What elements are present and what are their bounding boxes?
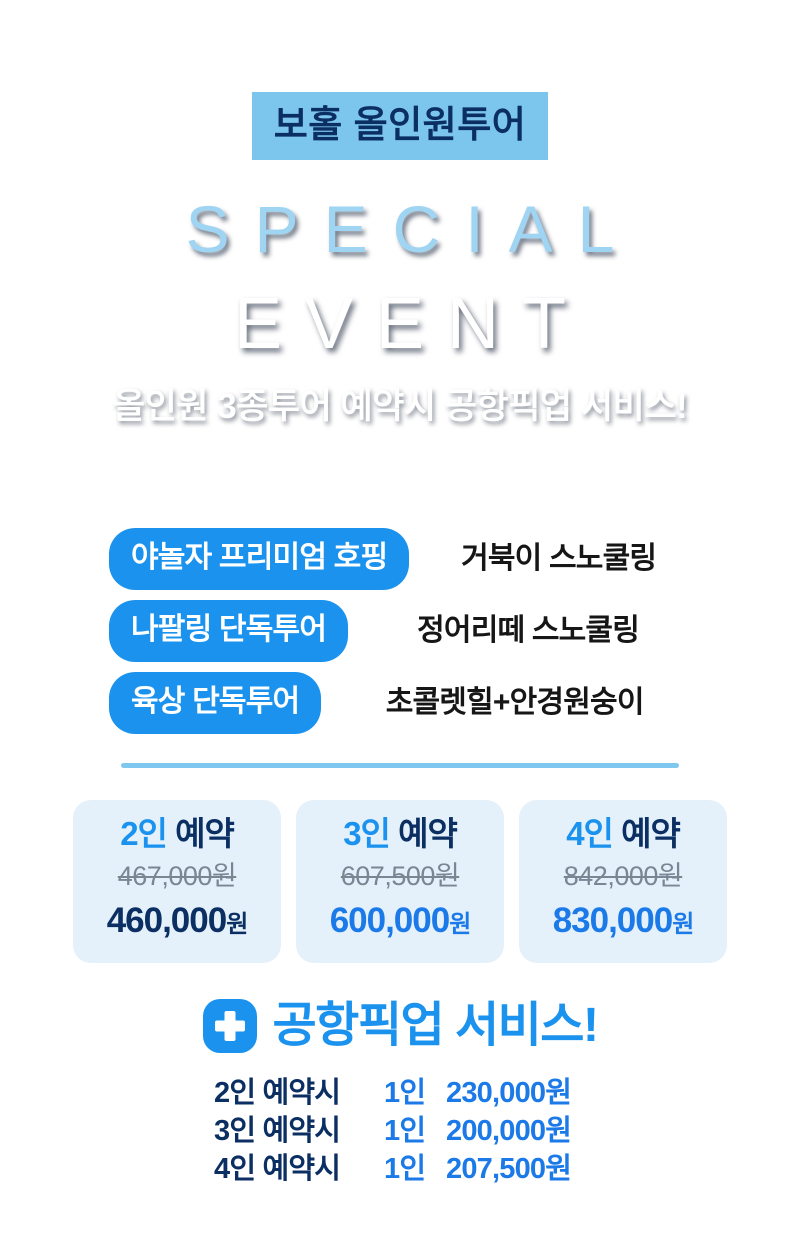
price-card-count: 3인 xyxy=(343,815,390,852)
poster-header: 보홀 올인원투어 SPECIAL EVENT 올인원 3종투어 예약시 공항픽업… xyxy=(0,0,800,428)
bonus-price-row: 2인 예약시 1인 230,000원 xyxy=(214,1079,738,1117)
tour-row: 야놀자 프리미엄 호핑 거북이 스노쿨링 xyxy=(62,523,738,595)
bonus-row-amount: 200,000원 xyxy=(446,1117,571,1146)
price-card-word: 예약 xyxy=(398,815,457,852)
price-card-old-price: 467,000원 xyxy=(73,863,281,890)
tour-name-badge: 보홀 올인원투어 xyxy=(252,92,549,160)
plus-icon xyxy=(203,999,257,1053)
price-card-new-amount: 460,000 xyxy=(107,901,227,940)
tour-description: 정어리떼 스노쿨링 xyxy=(348,616,738,646)
price-card-currency: 원 xyxy=(672,911,693,938)
tour-list: 야놀자 프리미엄 호핑 거북이 스노쿨링 나팔링 단독투어 정어리떼 스노쿨링 … xyxy=(62,495,738,739)
price-card-title: 3인 예약 xyxy=(296,817,504,850)
header-subtitle: 올인원 3종투어 예약시 공항픽업 서비스! xyxy=(0,386,800,428)
bonus-price-list: 2인 예약시 1인 230,000원 3인 예약시 1인 200,000원 4인… xyxy=(62,1079,738,1193)
tour-pill: 육상 단독투어 xyxy=(109,672,321,734)
bonus-row-label: 3인 예약시 xyxy=(214,1117,384,1146)
price-card-title: 4인 예약 xyxy=(519,817,727,850)
bonus-row-per: 1인 xyxy=(384,1117,446,1146)
bonus-row-per: 1인 xyxy=(384,1155,446,1184)
event-heading: EVENT xyxy=(0,288,800,360)
price-card-title: 2인 예약 xyxy=(73,817,281,850)
price-card-old-price: 842,000원 xyxy=(519,863,727,890)
bonus-price-row: 4인 예약시 1인 207,500원 xyxy=(214,1155,738,1193)
bonus-title: 공항픽업 서비스! xyxy=(273,1002,598,1050)
tour-description: 거북이 스노쿨링 xyxy=(409,544,738,574)
content-card: 야놀자 프리미엄 호핑 거북이 스노쿨링 나팔링 단독투어 정어리떼 스노쿨링 … xyxy=(62,495,738,1208)
price-card-count: 2인 xyxy=(120,815,167,852)
price-card: 4인 예약 842,000원 830,000원 xyxy=(519,800,727,963)
price-card-new-price: 460,000원 xyxy=(73,903,281,938)
price-card: 2인 예약 467,000원 460,000원 xyxy=(73,800,281,963)
bonus-row-label: 2인 예약시 xyxy=(214,1079,384,1108)
tour-row: 나팔링 단독투어 정어리떼 스노쿨링 xyxy=(62,595,738,667)
price-card-count: 4인 xyxy=(566,815,613,852)
special-heading: SPECIAL xyxy=(0,196,800,262)
price-card-new-amount: 600,000 xyxy=(330,901,450,940)
tour-pill: 나팔링 단독투어 xyxy=(109,600,348,662)
price-card-word: 예약 xyxy=(175,815,234,852)
price-card-word: 예약 xyxy=(621,815,680,852)
price-card-old-price: 607,500원 xyxy=(296,863,504,890)
tour-description: 초콜렛힐+안경원숭이 xyxy=(321,688,738,718)
tour-pill: 야놀자 프리미엄 호핑 xyxy=(109,528,409,590)
price-card-new-price: 600,000원 xyxy=(296,903,504,938)
bonus-heading: 공항픽업 서비스! xyxy=(62,999,738,1053)
price-card: 3인 예약 607,500원 600,000원 xyxy=(296,800,504,963)
bonus-row-label: 4인 예약시 xyxy=(214,1155,384,1184)
price-card-list: 2인 예약 467,000원 460,000원 3인 예약 607,500원 6… xyxy=(62,768,738,963)
bonus-row-amount: 230,000원 xyxy=(446,1079,571,1108)
price-card-currency: 원 xyxy=(226,911,247,938)
tour-row: 육상 단독투어 초콜렛힐+안경원숭이 xyxy=(62,667,738,739)
bonus-row-amount: 207,500원 xyxy=(446,1155,571,1184)
price-card-currency: 원 xyxy=(449,911,470,938)
bonus-price-row: 3인 예약시 1인 200,000원 xyxy=(214,1117,738,1155)
promo-poster: 보홀 올인원투어 SPECIAL EVENT 올인원 3종투어 예약시 공항픽업… xyxy=(0,0,800,1250)
price-card-new-price: 830,000원 xyxy=(519,903,727,938)
bonus-row-per: 1인 xyxy=(384,1079,446,1108)
badge-container: 보홀 올인원투어 xyxy=(0,92,800,160)
price-card-new-amount: 830,000 xyxy=(553,901,673,940)
